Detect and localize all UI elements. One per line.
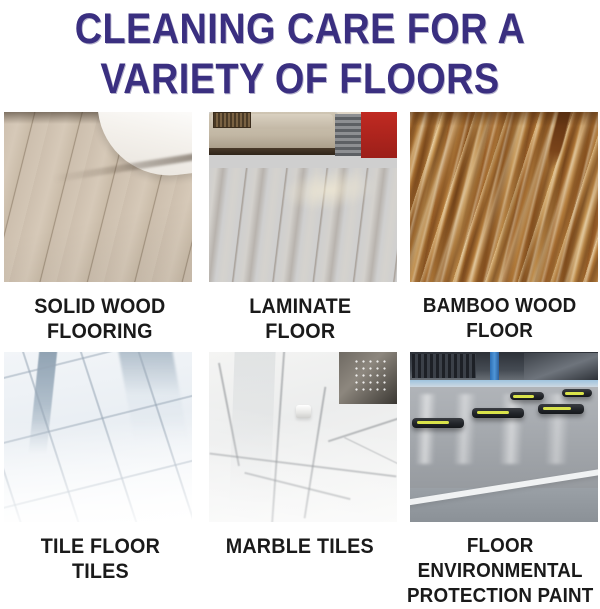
caption-floor-environmental-protection-paint: FLOOR ENVIRONMENTAL PROTECTION PAINT (407, 534, 593, 609)
thumbnail-marble-tiles[interactable] (209, 352, 397, 522)
speed-bump (562, 389, 592, 397)
grid-row-2: TILE FLOOR TILES (0, 352, 600, 592)
speed-bump (538, 404, 584, 414)
caption-line-1: BAMBOO WOOD (423, 294, 576, 319)
caption-line-2: FLOOR (249, 319, 351, 344)
photo-solid-wood-floor (4, 112, 192, 282)
wall-art-shape (213, 112, 251, 128)
photo-top-shadow (410, 112, 598, 126)
warehouse-racking-shape (412, 354, 476, 378)
speed-bump (412, 418, 464, 428)
caption-line-1: FLOOR (407, 534, 593, 559)
thumbnail-laminate-floor[interactable] (209, 112, 397, 282)
page-title: CLEANING CARE FOR A VARIETY OF FLOORS (0, 0, 600, 104)
caption-solid-wood-flooring: SOLID WOOD FLOORING (34, 294, 165, 344)
card-floor-environmental-protection-paint[interactable]: FLOOR ENVIRONMENTAL PROTECTION PAINT (400, 352, 600, 609)
photo-laminate-floor (209, 112, 397, 282)
caption-bamboo-wood-floor: BAMBOO WOOD FLOOR (423, 294, 576, 344)
caption-tile-floor-tiles: TILE FLOOR TILES (40, 534, 159, 584)
thumbnail-solid-wood-flooring[interactable] (4, 112, 192, 282)
red-cabinet-shape (361, 112, 397, 158)
sofa-base-shadow (209, 148, 343, 155)
card-solid-wood-flooring[interactable]: SOLID WOOD FLOORING (0, 112, 200, 344)
page-title-line-2: VARIETY OF FLOORS (36, 54, 564, 104)
thumbnail-bamboo-wood-floor[interactable] (410, 112, 598, 282)
caption-laminate-floor: LAMINATE FLOOR (249, 294, 351, 344)
caption-line-2: FLOORING (34, 319, 165, 344)
caption-line-1: TILE FLOOR (40, 534, 159, 559)
wall-light-band (410, 380, 598, 387)
caption-line-1: LAMINATE (249, 294, 351, 319)
tile-gloss-sheen (4, 420, 192, 522)
caption-line-2: TILES (40, 559, 159, 584)
speed-bump (472, 408, 524, 418)
caption-line-3: PROTECTION PAINT (407, 584, 593, 609)
page-title-line-1: CLEANING CARE FOR A (36, 4, 564, 54)
card-marble-tiles[interactable]: MARBLE TILES (200, 352, 400, 559)
thumbnail-tile-floor-tiles[interactable] (4, 352, 192, 522)
photo-bamboo-floor (410, 112, 598, 282)
card-tile-floor-tiles[interactable]: TILE FLOOR TILES (0, 352, 200, 584)
grid-row-1: SOLID WOOD FLOORING (0, 112, 600, 352)
foreground-floor-band (410, 488, 598, 522)
caption-line-2: ENVIRONMENTAL (407, 559, 593, 584)
card-bamboo-wood-floor[interactable]: BAMBOO WOOD FLOOR (400, 112, 600, 344)
photo-marble-floor (209, 352, 397, 522)
caption-line-1: SOLID WOOD (34, 294, 165, 319)
caption-line-2: FLOOR (423, 319, 576, 344)
caption-marble-tiles: MARBLE TILES (226, 534, 374, 559)
floor-type-grid: SOLID WOOD FLOORING (0, 112, 600, 592)
photo-tile-floor (4, 352, 192, 522)
caption-line-1: MARBLE TILES (226, 534, 374, 559)
speed-bump (510, 392, 544, 400)
shelf-unit-shape (335, 114, 361, 156)
card-laminate-floor[interactable]: LAMINATE FLOOR (200, 112, 400, 344)
machinery-shape (524, 353, 598, 380)
marble-gloss-sheen (209, 352, 397, 522)
photo-epoxy-floor (410, 352, 598, 522)
bamboo-grain-overlay (410, 112, 598, 282)
thumbnail-floor-environmental-protection-paint[interactable] (410, 352, 598, 522)
